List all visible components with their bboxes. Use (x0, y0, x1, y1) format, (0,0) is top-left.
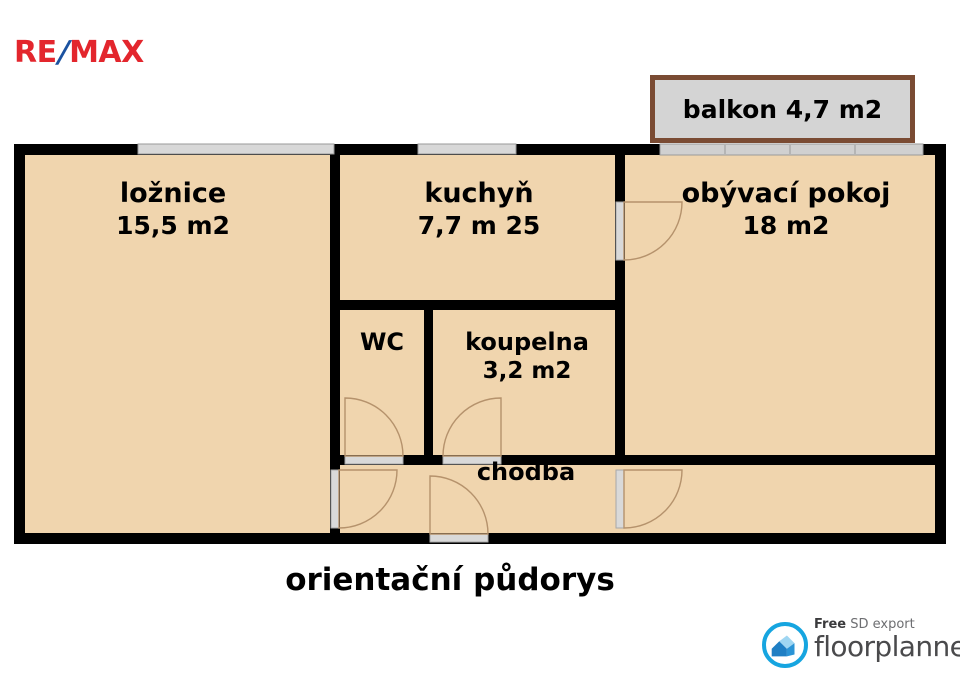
floor-koupelna (430, 305, 622, 460)
door-leaf-kuchyn-obyvaci (616, 202, 624, 260)
door-leaf-entrance (430, 534, 488, 542)
window-loznice (138, 144, 334, 154)
door-leaf-wc (345, 456, 403, 464)
floor-chodba (330, 460, 946, 544)
door-leaf-loznice (331, 470, 339, 528)
door-leaf-koupelna (443, 456, 501, 464)
floorplanner-house-icon (762, 622, 808, 668)
floor-loznice (14, 144, 330, 544)
wall-wc-koupelna (424, 305, 433, 460)
window-kuchyn (418, 144, 516, 154)
wall-obyvaci-chodba (615, 455, 946, 465)
wall-left (14, 144, 25, 544)
floorplanner-name: floorplanner (814, 632, 960, 661)
floor-obyvaci (622, 144, 946, 460)
floorplanner-logo: Free SD export floorplanner (762, 618, 958, 674)
room-floors (14, 144, 946, 544)
floor-kuchyn (330, 144, 622, 305)
wall-right (935, 144, 946, 544)
door-leaf-chodba-obyvaci (616, 470, 624, 528)
wall-kuchyn-koupelna (330, 300, 622, 310)
floorplanner-wordmark: Free SD export floorplanner (814, 618, 960, 662)
window-balcony-door (660, 144, 923, 155)
plan-caption: orientační půdorys (0, 562, 900, 598)
